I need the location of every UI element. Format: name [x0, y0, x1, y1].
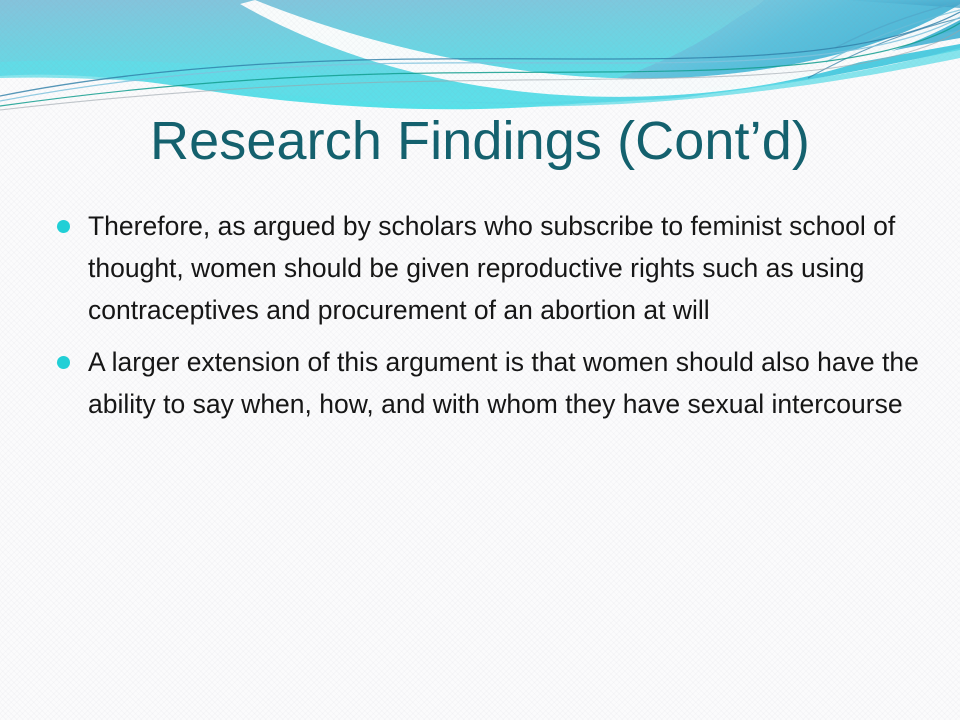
bullet-dot-icon: [57, 356, 70, 369]
slide-content: Research Findings (Cont’d) Therefore, as…: [0, 0, 960, 720]
title-placeholder[interactable]: Research Findings (Cont’d): [60, 113, 900, 170]
list-item[interactable]: A larger extension of this argument is t…: [48, 341, 932, 425]
bullet-dot-icon: [57, 220, 70, 233]
page-title: Research Findings (Cont’d): [60, 113, 900, 170]
content-placeholder[interactable]: Therefore, as argued by scholars who sub…: [48, 205, 932, 435]
list-item-text: Therefore, as argued by scholars who sub…: [88, 205, 932, 331]
list-item-text: A larger extension of this argument is t…: [88, 341, 932, 425]
presentation-slide: Research Findings (Cont’d) Therefore, as…: [0, 0, 960, 720]
list-item[interactable]: Therefore, as argued by scholars who sub…: [48, 205, 932, 331]
